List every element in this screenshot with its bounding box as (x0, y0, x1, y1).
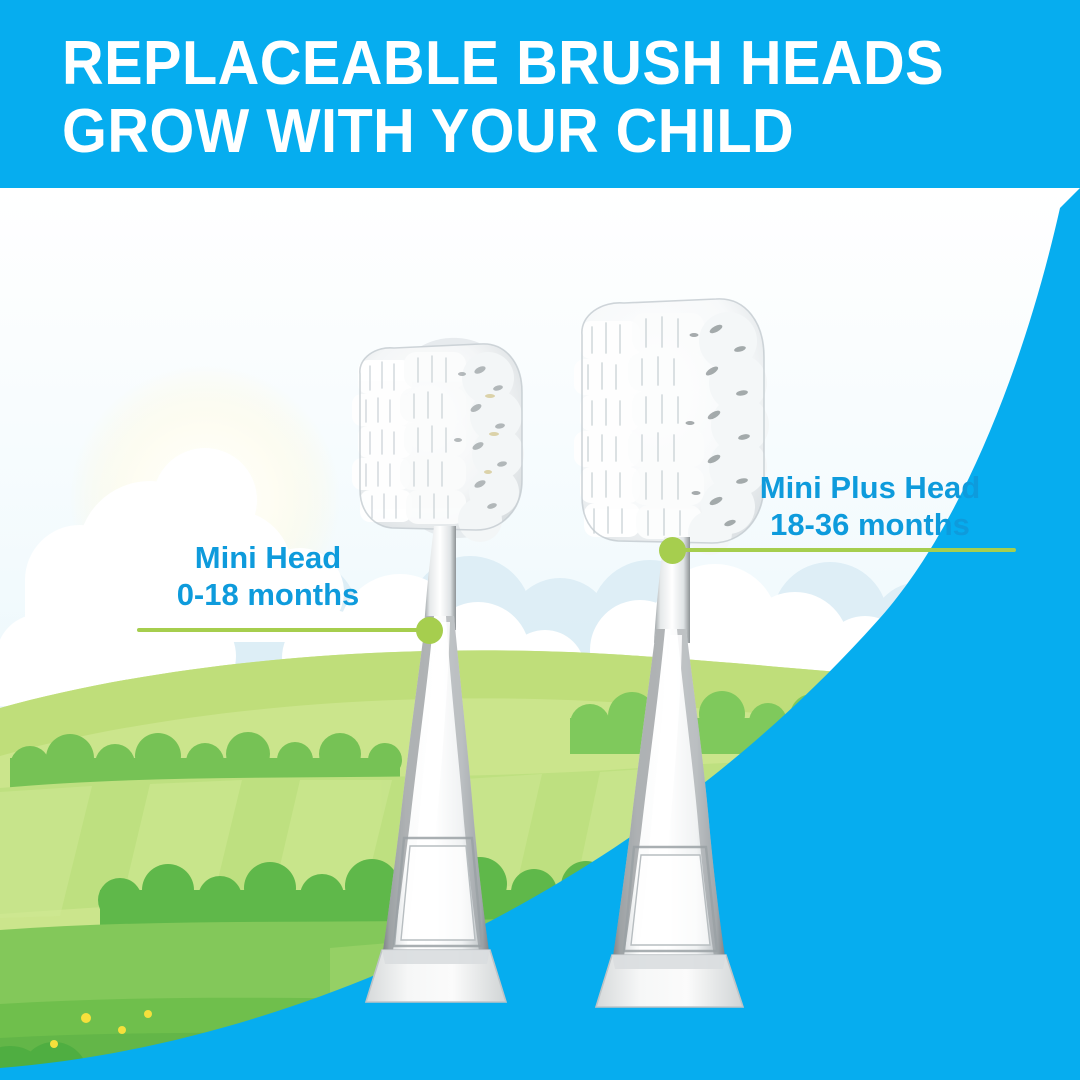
leader-line-mini-head (137, 628, 429, 632)
mini-plus-bristle-head (574, 299, 769, 555)
mini-neck (424, 526, 456, 630)
product-mini-head-brush (330, 330, 560, 1010)
headline-line-2: GROW WITH YOUR CHILD (62, 101, 794, 163)
callout-mini-head: Mini Head 0-18 months (158, 540, 378, 613)
callout-mini-head-title: Mini Head (158, 540, 378, 577)
leader-line-mini-plus-head (672, 548, 1016, 552)
mini-plus-brush-illustration (560, 295, 805, 1010)
mini-brush-illustration (330, 330, 560, 1010)
callout-mini-plus-head: Mini Plus Head 18-36 months (752, 470, 988, 543)
leader-dot-mini-head (416, 617, 443, 644)
product-mini-plus-head-brush (560, 295, 805, 1010)
callout-mini-plus-head-age: 18-36 months (752, 507, 988, 544)
callout-mini-plus-head-title: Mini Plus Head (752, 470, 988, 507)
headline-line-1: REPLACEABLE BRUSH HEADS (62, 33, 944, 95)
leader-dot-mini-plus-head (659, 537, 686, 564)
product-marketing-image: REPLACEABLE BRUSH HEADS GROW WITH YOUR C… (0, 0, 1080, 1080)
mini-bristle-head (352, 338, 524, 542)
header-banner: REPLACEABLE BRUSH HEADS GROW WITH YOUR C… (0, 0, 1080, 188)
callout-mini-head-age: 0-18 months (158, 577, 378, 614)
